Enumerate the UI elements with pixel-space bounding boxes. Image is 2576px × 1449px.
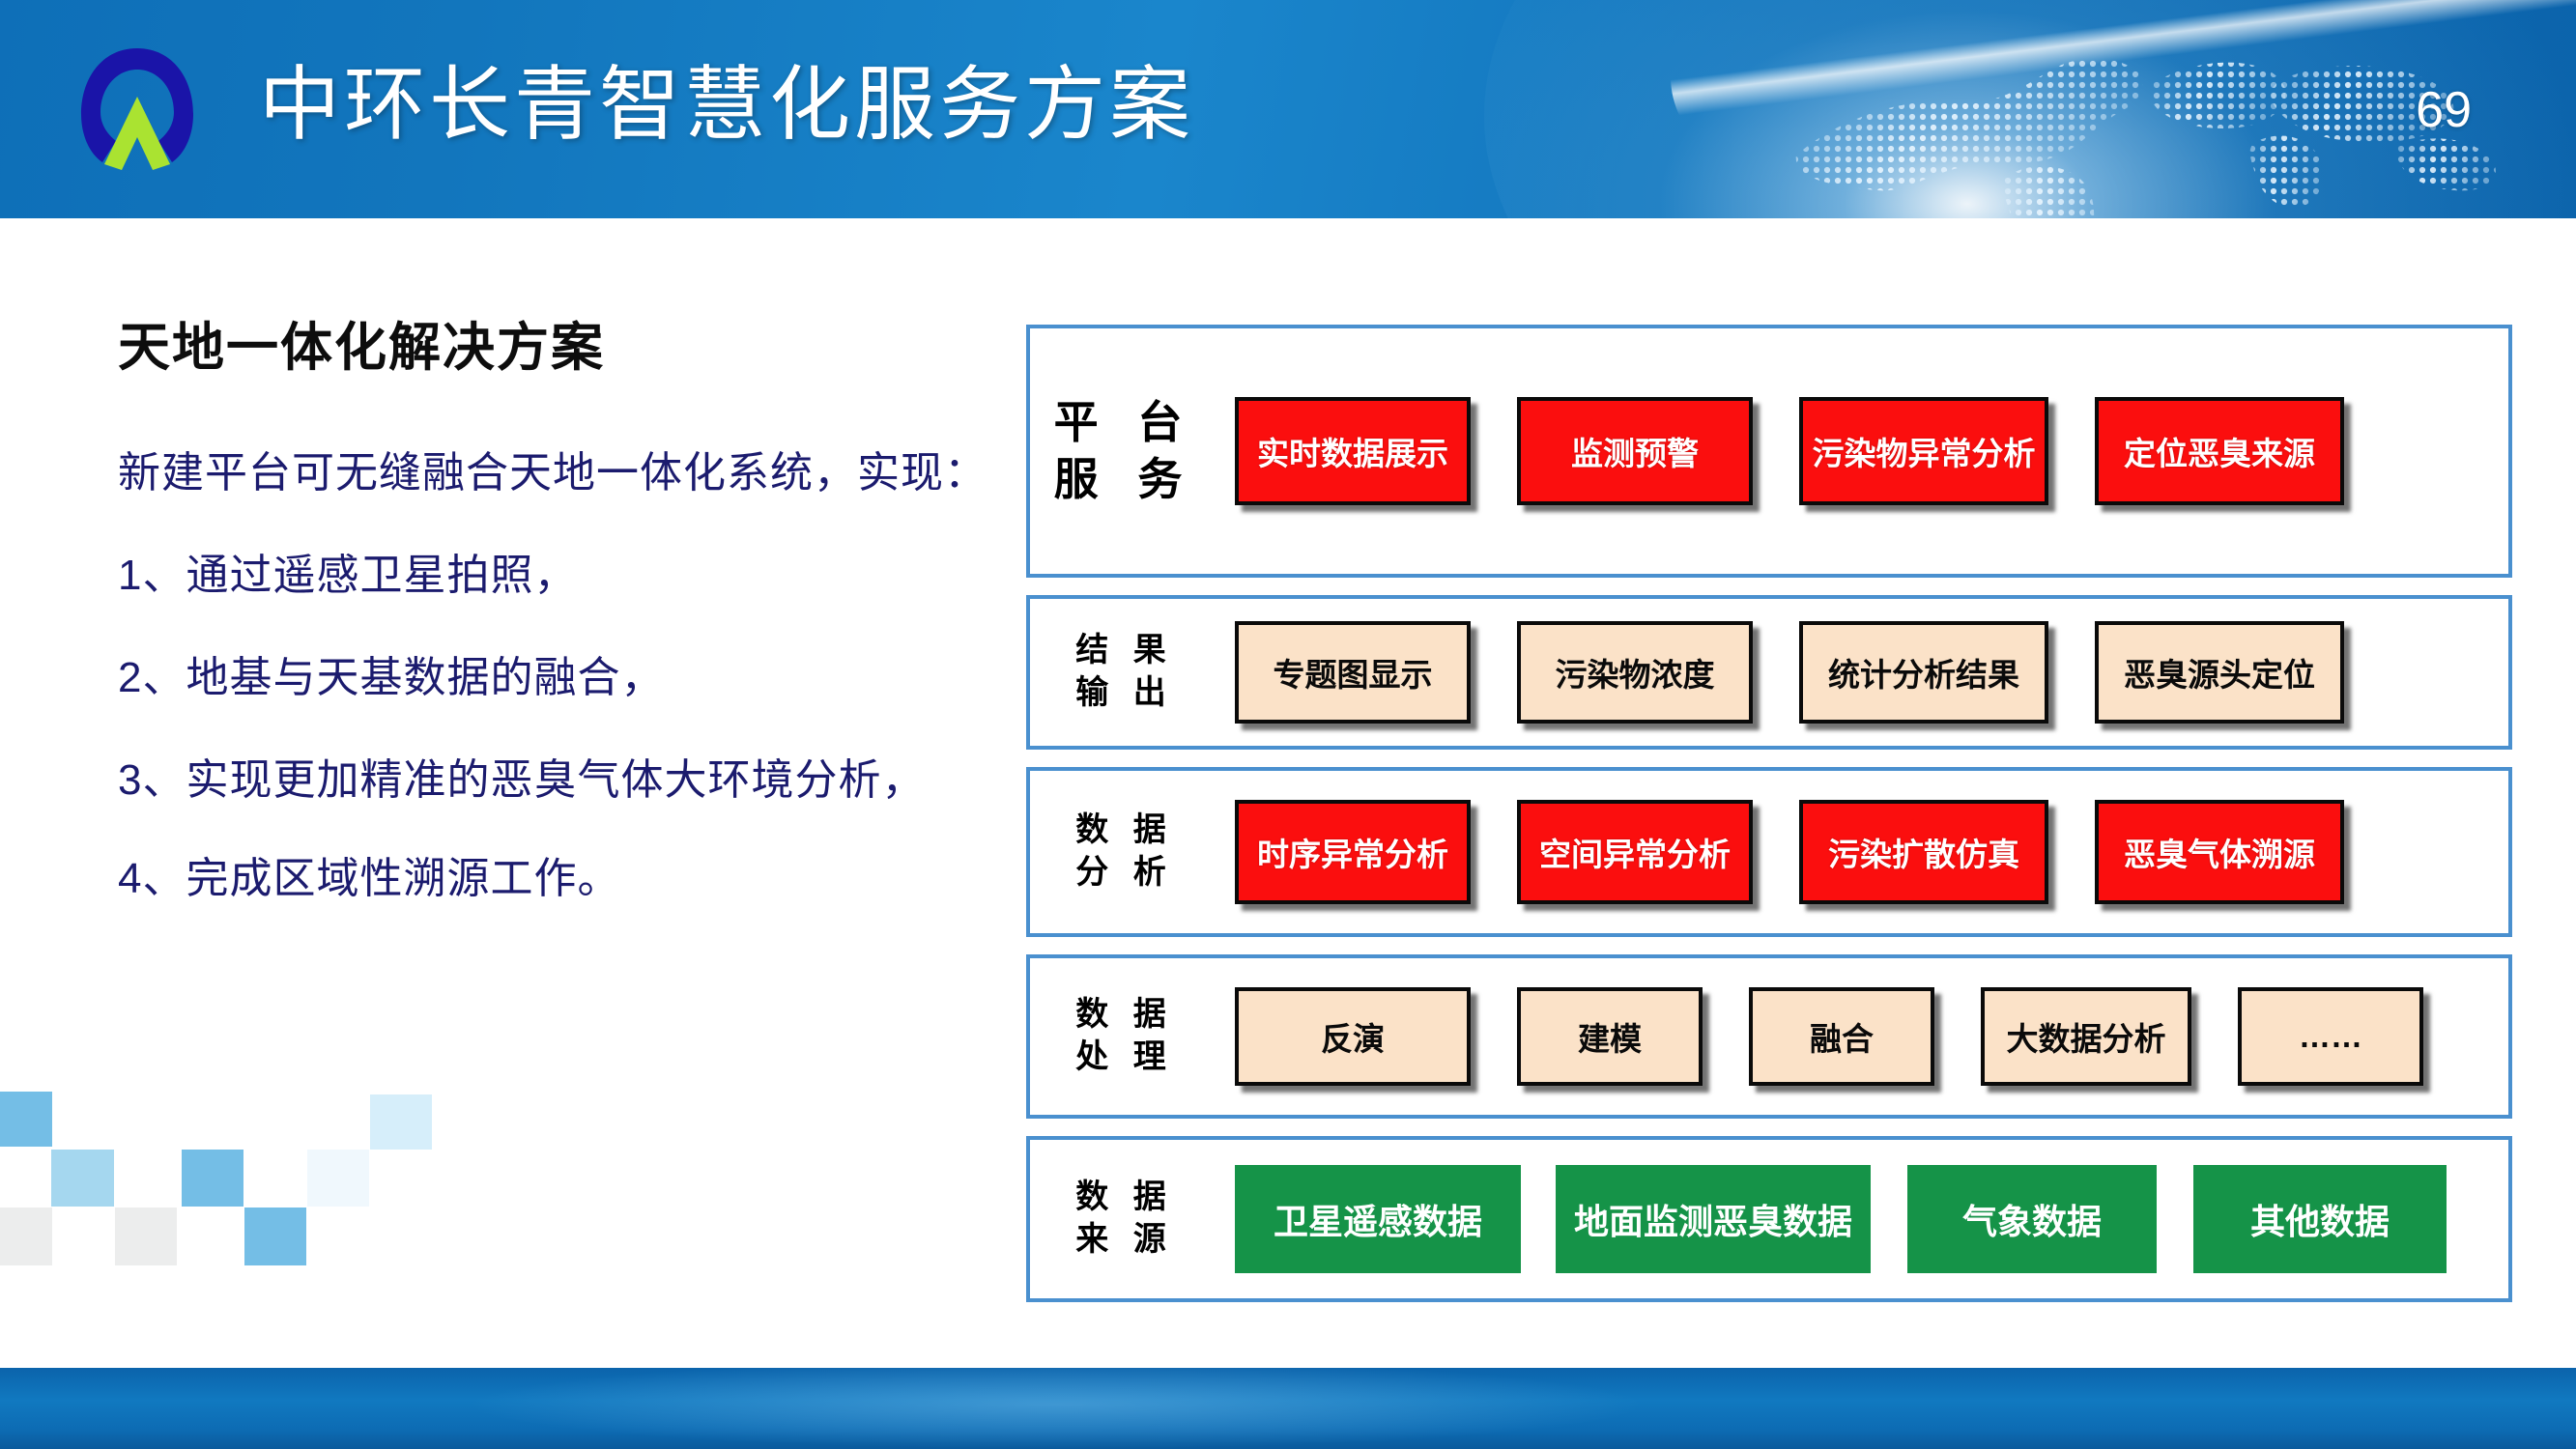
decorative-square [370, 1094, 432, 1150]
band-label-line: 服 务 [1047, 451, 1202, 508]
node-modeling[interactable]: 建模 [1517, 987, 1703, 1086]
company-logo [70, 41, 205, 176]
band-platform-service: 平 台 服 务 实时数据展示 监测预警 污染物异常分析 定位恶臭来源 [1026, 325, 2512, 578]
band-label-line: 输 出 [1047, 672, 1202, 715]
bullet-line-1: 1、通过遥感卫星拍照， [118, 549, 987, 603]
node-pollutant-anomaly-analysis[interactable]: 污染物异常分析 [1799, 397, 2048, 505]
band-label-data-analysis: 数 据 分 析 [1030, 810, 1202, 894]
node-satellite-remote-sensing-data[interactable]: 卫星遥感数据 [1235, 1165, 1521, 1273]
footer-sheen-decoration [464, 1368, 1648, 1449]
decorative-square [115, 1207, 177, 1265]
section-title: 天地一体化解决方案 [118, 319, 987, 377]
band-items-result-output: 专题图显示 污染物浓度 统计分析结果 恶臭源头定位 [1202, 621, 2508, 724]
node-statistical-analysis-result[interactable]: 统计分析结果 [1799, 621, 2048, 724]
band-label-platform-service: 平 台 服 务 [1030, 394, 1202, 508]
intro-line: 新建平台可无缝融合天地一体化系统，实现： [118, 446, 987, 500]
node-spatial-anomaly-analysis[interactable]: 空间异常分析 [1517, 800, 1753, 904]
node-realtime-data-display[interactable]: 实时数据展示 [1235, 397, 1471, 505]
node-odor-source-positioning[interactable]: 恶臭源头定位 [2095, 621, 2344, 724]
band-label-line: 平 台 [1047, 394, 1202, 451]
decorative-square [51, 1150, 114, 1207]
slide-canvas: 中环长青智慧化服务方案 69 天地一体化解决方案 新建平台可无缝融合天地一体化系… [0, 0, 2576, 1449]
decorative-square [182, 1150, 243, 1207]
band-result-output: 结 果 输 出 专题图显示 污染物浓度 统计分析结果 恶臭源头定位 [1026, 595, 2512, 750]
band-label-line: 数 据 [1047, 810, 1202, 852]
node-inversion[interactable]: 反演 [1235, 987, 1471, 1086]
node-pollution-diffusion-simulation[interactable]: 污染扩散仿真 [1799, 800, 2048, 904]
decorative-square [307, 1150, 369, 1207]
node-other-data[interactable]: 其他数据 [2193, 1165, 2447, 1273]
band-data-processing: 数 据 处 理 反演 建模 融合 大数据分析 …… [1026, 954, 2512, 1119]
band-label-line: 数 据 [1047, 994, 1202, 1037]
bullet-line-3: 3、实现更加精准的恶臭气体大环境分析， [118, 753, 987, 808]
band-label-line: 数 据 [1047, 1177, 1202, 1219]
decorative-square [244, 1207, 306, 1265]
page-number: 69 [2416, 85, 2472, 135]
bullet-line-2: 2、地基与天基数据的融合， [118, 651, 987, 705]
band-data-source: 数 据 来 源 卫星遥感数据 地面监测恶臭数据 气象数据 其他数据 [1026, 1136, 2512, 1302]
decorative-square [0, 1092, 52, 1147]
slide-header: 中环长青智慧化服务方案 69 [0, 0, 2576, 218]
architecture-diagram: 平 台 服 务 实时数据展示 监测预警 污染物异常分析 定位恶臭来源 结 果 输… [1026, 325, 2512, 1320]
node-monitoring-alert[interactable]: 监测预警 [1517, 397, 1753, 505]
band-label-line: 来 源 [1047, 1219, 1202, 1262]
band-label-line: 分 析 [1047, 852, 1202, 895]
decorative-square-pattern [0, 1070, 483, 1360]
band-label-result-output: 结 果 输 出 [1030, 630, 1202, 714]
band-data-analysis: 数 据 分 析 时序异常分析 空间异常分析 污染扩散仿真 恶臭气体溯源 [1026, 767, 2512, 937]
node-big-data-analysis[interactable]: 大数据分析 [1981, 987, 2191, 1086]
header-glow-decoration [1484, 0, 2576, 218]
node-thematic-map-display[interactable]: 专题图显示 [1235, 621, 1471, 724]
node-pollutant-concentration[interactable]: 污染物浓度 [1517, 621, 1753, 724]
band-items-data-analysis: 时序异常分析 空间异常分析 污染扩散仿真 恶臭气体溯源 [1202, 800, 2508, 904]
decorative-square [0, 1207, 52, 1265]
slide-footer [0, 1368, 2576, 1449]
node-time-series-anomaly-analysis[interactable]: 时序异常分析 [1235, 800, 1471, 904]
bullet-line-4: 4、完成区域性溯源工作。 [118, 852, 987, 906]
band-items-data-processing: 反演 建模 融合 大数据分析 …… [1202, 987, 2508, 1086]
band-label-data-processing: 数 据 处 理 [1030, 994, 1202, 1078]
node-fusion[interactable]: 融合 [1749, 987, 1934, 1086]
node-meteorological-data[interactable]: 气象数据 [1907, 1165, 2157, 1273]
node-locate-odor-source[interactable]: 定位恶臭来源 [2095, 397, 2344, 505]
page-title: 中环长青智慧化服务方案 [259, 43, 1194, 166]
node-odor-gas-traceability[interactable]: 恶臭气体溯源 [2095, 800, 2344, 904]
band-items-platform-service: 实时数据展示 监测预警 污染物异常分析 定位恶臭来源 [1202, 397, 2508, 505]
node-ellipsis[interactable]: …… [2238, 987, 2423, 1086]
band-label-line: 处 理 [1047, 1037, 1202, 1079]
left-text-column: 天地一体化解决方案 新建平台可无缝融合天地一体化系统，实现： 1、通过遥感卫星拍… [118, 319, 987, 954]
band-items-data-source: 卫星遥感数据 地面监测恶臭数据 气象数据 其他数据 [1202, 1165, 2508, 1273]
node-ground-odor-monitoring-data[interactable]: 地面监测恶臭数据 [1556, 1165, 1871, 1273]
band-label-line: 结 果 [1047, 630, 1202, 672]
band-label-data-source: 数 据 来 源 [1030, 1177, 1202, 1261]
